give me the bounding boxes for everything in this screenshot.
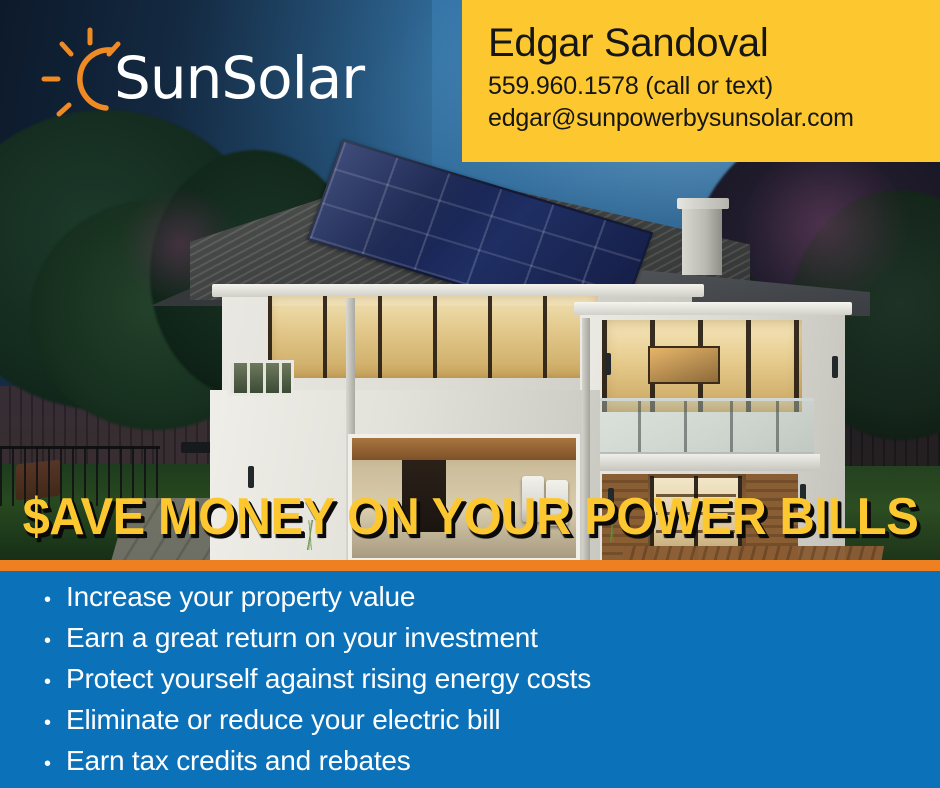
benefit-label: Earn a great return on your investment (66, 624, 538, 652)
chimney-cap (677, 198, 729, 209)
contact-name: Edgar Sandoval (488, 22, 940, 64)
benefit-label: Increase your property value (66, 583, 415, 611)
benefit-label: Eliminate or reduce your electric bill (66, 706, 500, 734)
orange-divider (0, 560, 940, 571)
exterior-light-fixture (248, 466, 254, 488)
sun-icon (34, 24, 146, 132)
headline-text: $AVE MONEY ON YOUR POWER BILLS (22, 487, 918, 547)
brand-logo[interactable]: SunSolar (34, 22, 434, 134)
bullet-dot-icon: • (44, 672, 66, 692)
interior-artwork (648, 346, 720, 384)
headline-banner: $AVE MONEY ON YOUR POWER BILLS (0, 486, 940, 548)
upper-window-wall (268, 296, 598, 378)
bullet-dot-icon: • (44, 590, 66, 610)
chimney (682, 203, 722, 275)
bullet-dot-icon: • (44, 754, 66, 774)
list-item: • Increase your property value (44, 583, 940, 624)
contact-card: Edgar Sandoval 559.960.1578 (call or tex… (462, 0, 940, 162)
list-item: • Protect yourself against rising energy… (44, 665, 940, 706)
small-side-window (228, 360, 294, 396)
list-item: • Eliminate or reduce your electric bill (44, 706, 940, 747)
balcony-glass-railing (592, 398, 814, 454)
contact-email[interactable]: edgar@sunpowerbysunsolar.com (488, 102, 940, 134)
exterior-light-fixture (605, 353, 611, 375)
right-wing-eave (574, 302, 852, 315)
bullet-dot-icon: • (44, 631, 66, 651)
contact-phone[interactable]: 559.960.1578 (call or text) (488, 70, 940, 102)
solar-advertisement: $AVE MONEY ON YOUR POWER BILLS • Increas… (0, 0, 940, 788)
garage-header-beam (352, 438, 576, 460)
benefit-label: Protect yourself against rising energy c… (66, 665, 591, 693)
benefits-panel: • Increase your property value • Earn a … (0, 571, 940, 788)
exterior-light-fixture (832, 356, 838, 378)
list-item: • Earn a great return on your investment (44, 624, 940, 665)
benefit-label: Earn tax credits and rebates (66, 747, 411, 775)
brand-name: SunSolar (114, 44, 364, 112)
list-item: • Earn tax credits and rebates (44, 747, 940, 788)
balcony-slab (586, 454, 820, 471)
bullet-dot-icon: • (44, 713, 66, 733)
